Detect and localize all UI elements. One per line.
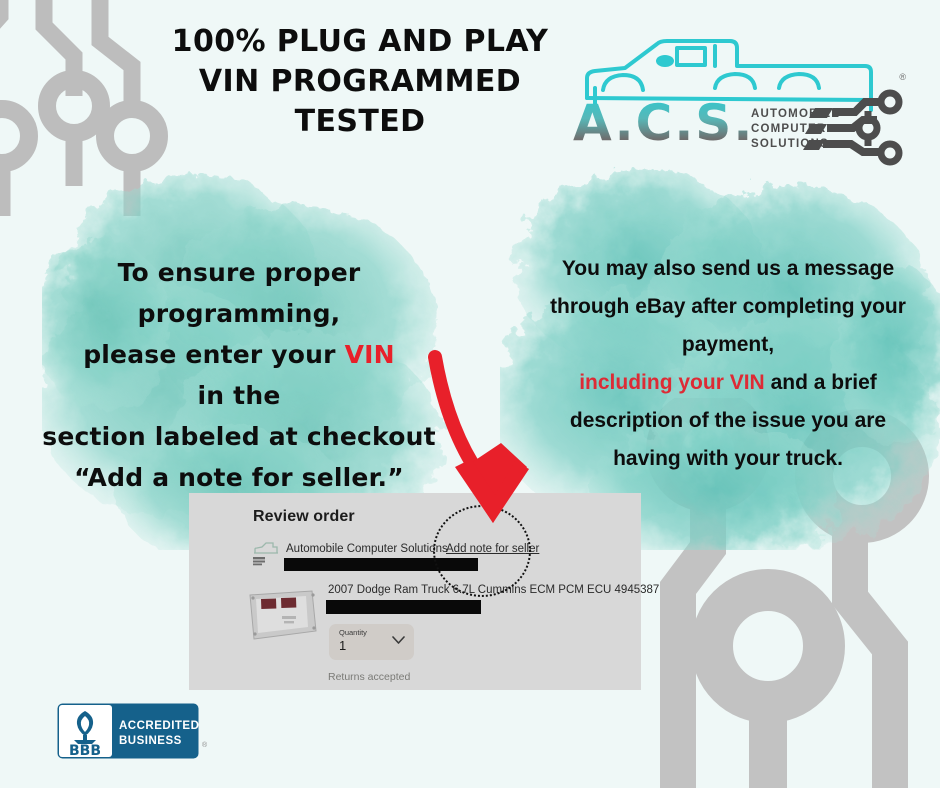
- registered-trademark-mark: ®: [899, 72, 906, 82]
- bbb-accredited-business-badge: BBB ACCREDITED BUSINESS: [57, 703, 199, 759]
- headline-line-3: TESTED: [120, 102, 600, 142]
- returns-accepted-note: Returns accepted: [328, 671, 410, 683]
- chevron-down-icon: [392, 636, 405, 645]
- quantity-value: 1: [339, 638, 346, 653]
- bbb-accredited-line-2: BUSINESS: [119, 735, 182, 747]
- bbb-mark: BBB: [69, 743, 101, 759]
- review-order-heading: Review order: [253, 508, 355, 526]
- copy-right-line-1: You may also send us a message: [540, 250, 916, 288]
- svg-text:A.C.S.: A.C.S.: [573, 94, 754, 152]
- copy-left-line-4: in the: [24, 375, 454, 416]
- copy-right-line-4-suffix: and a brief: [765, 371, 877, 394]
- bbb-accredited-line-1: ACCREDITED: [119, 720, 199, 732]
- copy-right-line-5: description of the issue you are: [540, 402, 916, 440]
- copy-left-line-2: programming,: [24, 293, 454, 334]
- product-thumbnail-ecm-module: [244, 583, 320, 647]
- instruction-text-right: You may also send us a message through e…: [540, 250, 916, 478]
- annotation-arrow-icon: [415, 345, 535, 535]
- headline-line-2: VIN PROGRAMMED: [120, 62, 600, 102]
- bbb-registered-mark: ®: [202, 742, 207, 749]
- pickup-truck-outline-icon: A.C.S. AUTOMOBILE COMPUTER SOLUTIONS: [565, 28, 910, 168]
- quantity-label: Quantity: [339, 628, 367, 637]
- promotional-graphic: 100% PLUG AND PLAY VIN PROGRAMMED TESTED: [0, 0, 940, 788]
- copy-right-line-4: including your VIN and a brief: [540, 364, 916, 402]
- quantity-select[interactable]: Quantity 1: [329, 624, 414, 660]
- headline-line-1: 100% PLUG AND PLAY: [120, 22, 600, 62]
- vin-highlight-right: including your VIN: [579, 371, 765, 394]
- instruction-text-left: To ensure proper programming, please ent…: [24, 252, 454, 498]
- seller-avatar: [251, 540, 281, 568]
- page-title: 100% PLUG AND PLAY VIN PROGRAMMED TESTED: [120, 22, 600, 142]
- copy-left-line-3-text: please enter your: [83, 340, 344, 369]
- redacted-price: [326, 600, 481, 614]
- copy-right-line-3: payment,: [540, 326, 916, 364]
- copy-left-line-3: please enter your VIN: [24, 334, 454, 375]
- copy-left-line-5: section labeled at checkout: [24, 416, 454, 457]
- copy-right-line-2: through eBay after completing your: [540, 288, 916, 326]
- copy-left-line-6: “Add a note for seller.”: [24, 457, 454, 498]
- copy-right-line-6: having with your truck.: [540, 440, 916, 478]
- copy-left-line-1: To ensure proper: [24, 252, 454, 293]
- seller-name: Automobile Computer Solutions: [286, 543, 448, 555]
- acs-logo: A.C.S. AUTOMOBILE COMPUTER SOLUTIONS ®: [565, 28, 910, 168]
- vin-highlight: VIN: [345, 340, 395, 369]
